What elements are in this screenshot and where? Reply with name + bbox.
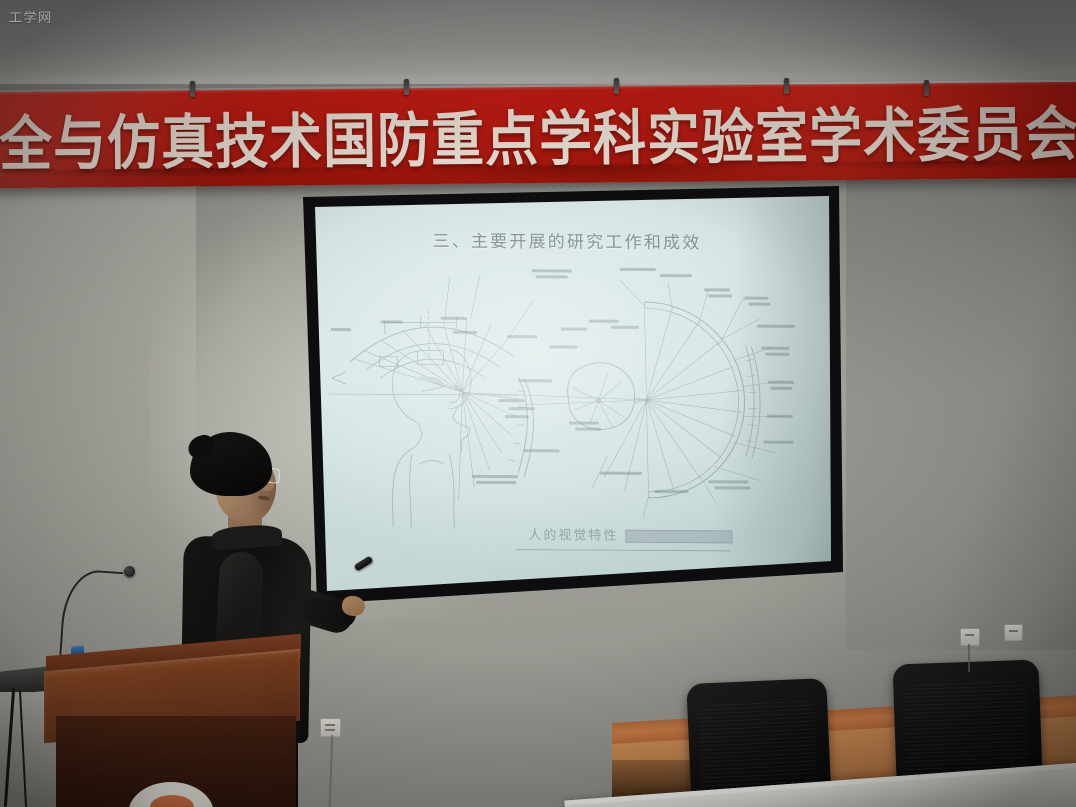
diagram-label <box>660 274 692 277</box>
diagram-label <box>757 325 795 328</box>
diagram-label <box>476 481 516 484</box>
outlet-slot <box>1009 630 1018 632</box>
diagram-label <box>381 320 403 323</box>
banner-clip-1 <box>190 81 195 97</box>
diagram-label <box>505 415 529 418</box>
banner-clip-3 <box>614 78 619 94</box>
microphone-capsule-icon <box>124 566 135 577</box>
diagram-label <box>532 269 572 272</box>
diagram-label <box>509 407 535 410</box>
diagram-label <box>575 427 601 430</box>
diagram-label <box>589 320 619 323</box>
diagram-label <box>472 475 518 478</box>
slide-content: 三、主要开展的研究工作和成效 <box>318 198 823 583</box>
diagram-label <box>569 421 599 424</box>
diagram-label <box>331 328 351 331</box>
diagram-label <box>498 399 524 402</box>
outlet-slot <box>325 729 335 731</box>
diagram-label <box>518 379 552 382</box>
diagram-label <box>708 480 748 483</box>
diagram-label <box>654 490 688 493</box>
banner-clip-2 <box>404 79 409 95</box>
diagram-label <box>744 297 768 300</box>
conference-room-photo: 核安全与仿真技术国防重点学科实验室学术委员会会议 三、主要开展的研究工作和成效 <box>0 0 1076 807</box>
diagram-label <box>763 441 793 444</box>
diagram-label <box>714 486 750 489</box>
wall-outlet-right-2 <box>1004 624 1023 641</box>
diagram-label <box>620 268 656 271</box>
diagram-label <box>768 381 794 384</box>
right-wall-shadow <box>846 180 1076 650</box>
slide-caption: 人的视觉特性 <box>325 523 822 545</box>
diagram-label <box>765 353 789 356</box>
diagram-label <box>524 449 560 452</box>
diagram-label <box>536 275 568 278</box>
slide-title: 三、主要开展的研究工作和成效 <box>319 226 816 254</box>
diagram-label <box>441 317 467 320</box>
diagram-label <box>708 294 732 297</box>
diagram-label <box>767 415 793 418</box>
diagram-label <box>748 303 770 306</box>
diagram-label <box>549 345 577 348</box>
diagram-label <box>770 387 792 390</box>
diagram-label <box>704 288 730 291</box>
diagram-label <box>600 472 642 475</box>
diagram-label <box>761 347 789 350</box>
wall-outlet-right-cable <box>968 644 970 672</box>
banner-cloth: 核安全与仿真技术国防重点学科实验室学术委员会会议 <box>0 82 1076 188</box>
wall-outlet-right-1 <box>960 628 980 646</box>
diagram-label <box>561 327 587 330</box>
diagram-label <box>453 331 477 334</box>
slide-footer-rule <box>516 549 731 551</box>
banner-clip-4 <box>784 78 789 94</box>
outlet-slot <box>965 634 974 636</box>
banner: 核安全与仿真技术国防重点学科实验室学术委员会会议 <box>0 79 1076 187</box>
outlet-slot <box>325 724 335 726</box>
watermark: 工学网 <box>9 7 53 26</box>
slide-corner-badge <box>625 530 732 544</box>
diagram-label <box>611 326 639 329</box>
diagram-label <box>507 335 537 338</box>
banner-clip-5 <box>924 80 929 96</box>
